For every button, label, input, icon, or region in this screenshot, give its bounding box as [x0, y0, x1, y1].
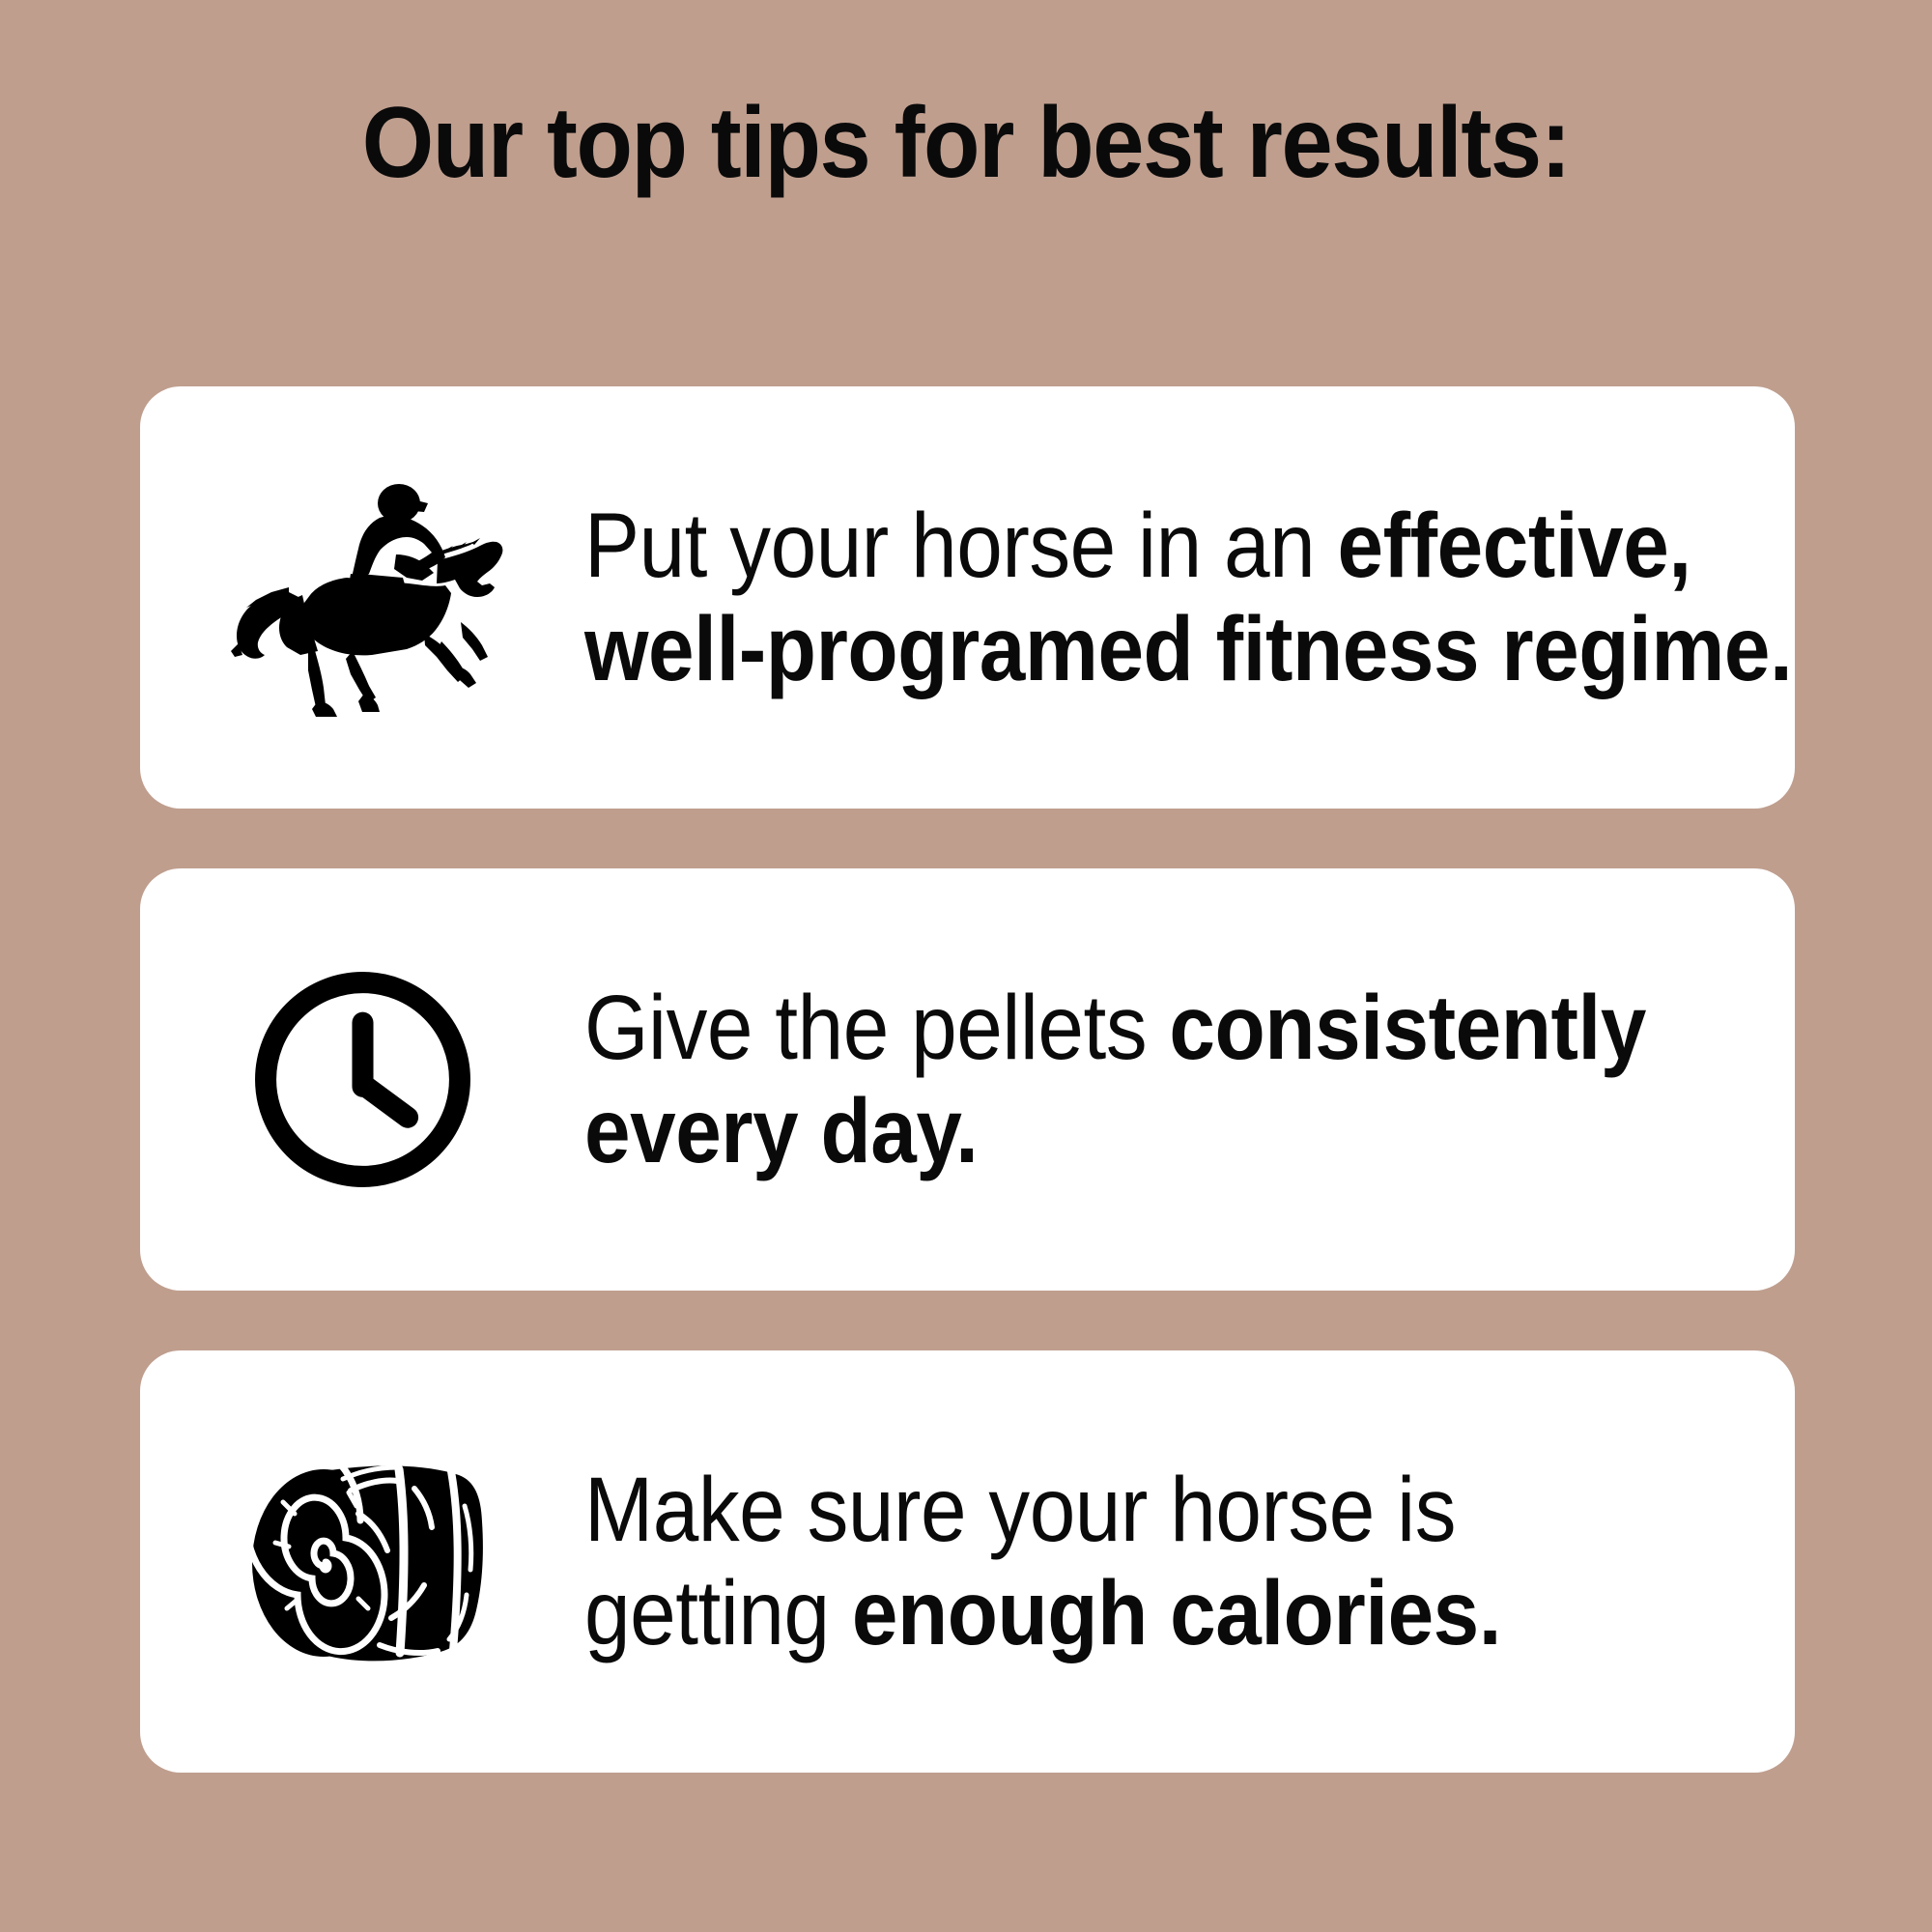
tip-line-regular: Make sure your horse is: [584, 1459, 1456, 1561]
tip-card-consistency: Give the pellets consistently every day.: [140, 868, 1795, 1291]
tip-line-bold: well-programed fitness regime.: [584, 598, 1792, 700]
tips-poster: Our top tips for best results:: [0, 0, 1932, 1932]
tip-line-bold: consistently: [1169, 977, 1645, 1079]
tip-line-bold: every day.: [584, 1080, 978, 1182]
horse-rider-icon: [140, 386, 584, 809]
tip-line-regular: Give the pellets: [584, 977, 1169, 1079]
tip-text-calories: Make sure your horse is getting enough c…: [584, 1459, 1674, 1664]
clock-icon: [140, 868, 584, 1291]
tip-text-consistency: Give the pellets consistently every day.: [584, 977, 1698, 1182]
tip-text-fitness-regime: Put your horse in an effective, well-pro…: [584, 495, 1844, 700]
hay-bale-icon: [140, 1350, 584, 1773]
tip-card-fitness-regime: Put your horse in an effective, well-pro…: [140, 386, 1795, 809]
tip-line-regular: getting: [584, 1562, 852, 1664]
tip-line-bold: enough calories.: [852, 1562, 1501, 1664]
tips-list: Put your horse in an effective, well-pro…: [140, 386, 1795, 1773]
tip-line-regular: Put your horse in an: [584, 495, 1338, 597]
tip-line-bold: effective,: [1338, 495, 1691, 597]
page-title: Our top tips for best results:: [77, 89, 1855, 197]
tip-card-calories: Make sure your horse is getting enough c…: [140, 1350, 1795, 1773]
